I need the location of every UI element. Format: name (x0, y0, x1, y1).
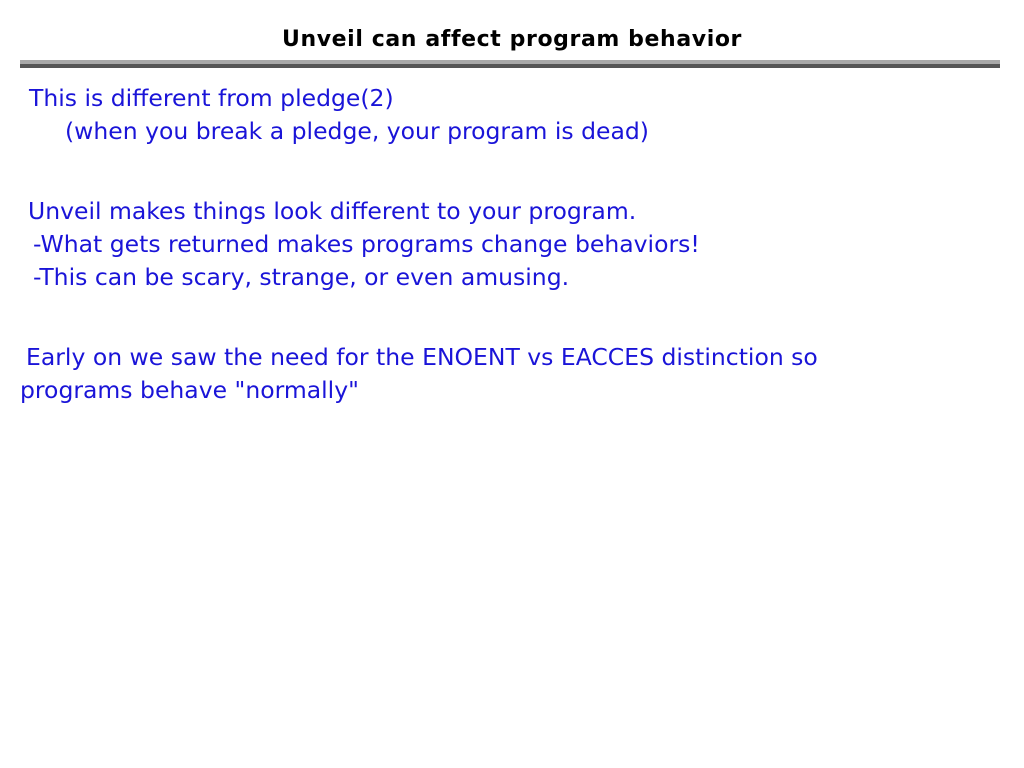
text-block-enoent-eacces: Early on we saw the need for the ENOENT … (0, 341, 1000, 407)
bullet-line: -What gets returned makes programs chang… (0, 228, 1000, 261)
empty-slide-area (0, 420, 1024, 768)
text-block-unveil-behavior: Unveil makes things look different to yo… (0, 195, 1000, 294)
presentation-slide: Unveil can affect program behavior This … (0, 0, 1024, 768)
text-line: programs behave "normally" (0, 374, 1000, 407)
bullet-line: -This can be scary, strange, or even amu… (0, 261, 1000, 294)
text-line: Unveil makes things look different to yo… (0, 195, 1000, 228)
title-divider (20, 60, 1000, 68)
text-line: (when you break a pledge, your program i… (0, 115, 1000, 148)
text-line: Early on we saw the need for the ENOENT … (0, 341, 1000, 374)
text-line: This is different from pledge(2) (0, 82, 1000, 115)
divider-dark-band (20, 64, 1000, 68)
text-block-pledge-comparison: This is different from pledge(2) (when y… (0, 82, 1000, 148)
page-title: Unveil can affect program behavior (0, 27, 1024, 52)
